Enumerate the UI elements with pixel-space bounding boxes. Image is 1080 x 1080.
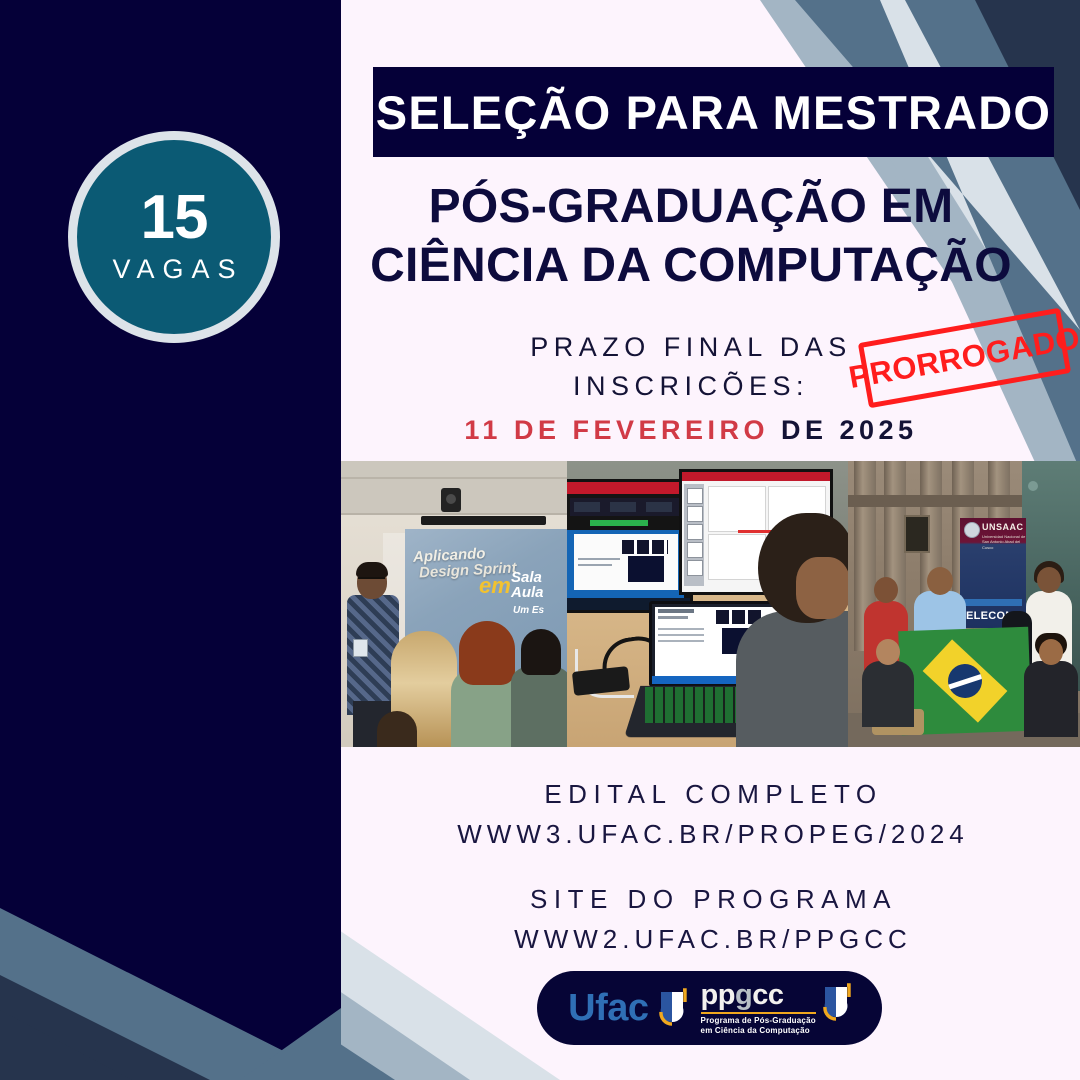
vagas-badge: 15 VAGAS (68, 131, 280, 343)
photo2-page-thumb-2 (687, 506, 703, 522)
photo2-page-thumb-4 (687, 542, 703, 558)
logo-bar: Ufac ppgcc Programa de Pós-Graduação em … (537, 971, 882, 1045)
photo2-page-thumb-3 (687, 524, 703, 540)
photo2-doc-page-1 (708, 486, 766, 532)
headline-banner: SELEÇÃO PARA MESTRADO (373, 67, 1054, 157)
ufac-shield-svg (657, 988, 687, 1028)
link-group-site: SITE DO PROGRAMA WWW2.UFAC.BR/PPGCC (341, 880, 1080, 959)
photo1-ceiling-line (341, 477, 567, 479)
link-group-edital: EDITAL COMPLETO WWW3.UFAC.BR/PROPEG/2024 (341, 775, 1080, 854)
site-url[interactable]: WWW2.UFAC.BR/PPGCC (341, 919, 1080, 959)
poster-canvas: 15 VAGAS SELEÇÃO PARA MESTRADO PÓS-GRADU… (0, 0, 1080, 1080)
photo3-banner-strip (964, 599, 1022, 606)
headline-banner-text: SELEÇÃO PARA MESTRADO (376, 85, 1051, 140)
vagas-label: VAGAS (104, 254, 243, 285)
ppgcc-word-cc: cc (752, 979, 783, 1011)
ppgcc-subtitle-line-1: Programa de Pós-Graduação (701, 1016, 816, 1026)
ppgcc-subtitle-line-2: em Ciência da Computação (701, 1026, 816, 1036)
photo2-laptop-bullet-2 (658, 634, 704, 636)
photo2-page-thumb-1 (687, 488, 703, 504)
photo3-cornice (848, 495, 1028, 507)
ppgcc-wordmark: ppgcc (701, 981, 816, 1010)
photo2-monitor-left-btn-3 (646, 502, 672, 512)
photo2-monitor-left-topbar (567, 482, 690, 494)
photo3-person-red-head (874, 577, 898, 603)
edital-label: EDITAL COMPLETO (341, 775, 1080, 814)
deadline-date-highlight: 11 DE FEVEREIRO (464, 415, 769, 445)
ppgcc-shield-icon (821, 983, 851, 1023)
photo1-audience-red-hair (459, 621, 515, 685)
ppgcc-logo: ppgcc Programa de Pós-Graduação em Ciênc… (701, 981, 851, 1036)
ppgcc-rule (701, 1012, 816, 1014)
vagas-number: 15 (141, 189, 208, 248)
photo1-slide-word-3: em (479, 573, 511, 599)
photo2-monitor-left-thumbs (622, 540, 668, 554)
photo1-audience-right-body (511, 667, 567, 747)
ppgcc-word-pp: pp (701, 979, 735, 1011)
photo2-monitor-left-btn-2 (610, 502, 636, 512)
ppgcc-word-g: g (735, 979, 752, 1011)
ppgcc-text-wrap: ppgcc Programa de Pós-Graduação em Ciênc… (701, 981, 816, 1036)
photo3-window (904, 515, 930, 553)
photo1-presenter-badge (353, 639, 368, 657)
photo-workstation (567, 461, 848, 747)
photo2-laptop-slide-subtitle (658, 616, 688, 619)
photo2-monitor-left (567, 479, 693, 613)
photo2-monitor-left-image (628, 556, 664, 582)
photo2-person-face (796, 557, 848, 619)
ufac-wordmark: Ufac (568, 989, 648, 1027)
photo2-monitor-left-text-1 (578, 558, 620, 560)
photo1-audience-front (377, 711, 417, 747)
photo3-person-blue-head (927, 567, 953, 595)
photo2-monitor-right-topbar (682, 472, 830, 481)
photo2-laptop-slide-title (658, 609, 694, 613)
photo1-audience-right-hair (521, 629, 561, 675)
photo2-monitor-left-text-2 (578, 564, 612, 566)
photo3-person-seated-head (1039, 639, 1063, 665)
edital-url[interactable]: WWW3.UFAC.BR/PROPEG/2024 (341, 814, 1080, 854)
links-block: EDITAL COMPLETO WWW3.UFAC.BR/PROPEG/2024… (341, 775, 1080, 986)
photo3-person-white-head (1037, 567, 1061, 593)
photo3-flag-band (947, 672, 982, 690)
photo-classroom-presentation: Aplicando Design Sprint em Sala Aula Um … (341, 461, 567, 747)
photo2-laptop-bullet-1 (658, 628, 704, 630)
photo2-person-body (736, 611, 848, 747)
photo2-page-thumb-5 (687, 560, 703, 576)
program-title-line-1: PÓS-GRADUAÇÃO EM (341, 178, 1041, 237)
photo3-banner-seal-icon (964, 522, 980, 538)
photo1-slide-word-5: Aula (511, 584, 544, 601)
photo3-person-kneeling-head (876, 639, 900, 665)
site-label: SITE DO PROGRAMA (341, 880, 1080, 919)
ufac-logo: Ufac (568, 988, 686, 1028)
photo-group-brazil-flag: UNSAAC Universidad Nacional de San Anton… (848, 461, 1080, 747)
photo2-laptop-bullet-3 (658, 640, 704, 642)
photo3-banner-subtitle: Universidad Nacional de San Antonio Abad… (982, 534, 1026, 550)
photo2-monitor-left-progress (590, 520, 648, 526)
photo1-speaker-icon (441, 488, 461, 512)
photo-strip: Aplicando Design Sprint em Sala Aula Um … (341, 461, 1080, 747)
photo2-monitor-left-btn-1 (574, 502, 600, 512)
deadline-date-rest: DE 2025 (769, 415, 918, 445)
photo1-slide-word-6: Um Es (513, 605, 544, 616)
photo1-presenter-hair (356, 562, 388, 577)
program-title: PÓS-GRADUAÇÃO EM CIÊNCIA DA COMPUTAÇÃO (341, 178, 1041, 295)
ufac-shield-icon (657, 988, 687, 1028)
photo3-banner-title: UNSAAC (982, 522, 1024, 532)
photo1-presenter-glasses (358, 577, 385, 585)
photo3-person-seated (1024, 661, 1078, 737)
photo3-person-kneeling (862, 661, 914, 727)
deadline-date: 11 DE FEVEREIRO DE 2025 (341, 410, 1041, 451)
photo1-projector-rail (421, 516, 546, 525)
program-title-line-2: CIÊNCIA DA COMPUTAÇÃO (341, 237, 1041, 296)
ppgcc-shield-svg (821, 983, 851, 1023)
